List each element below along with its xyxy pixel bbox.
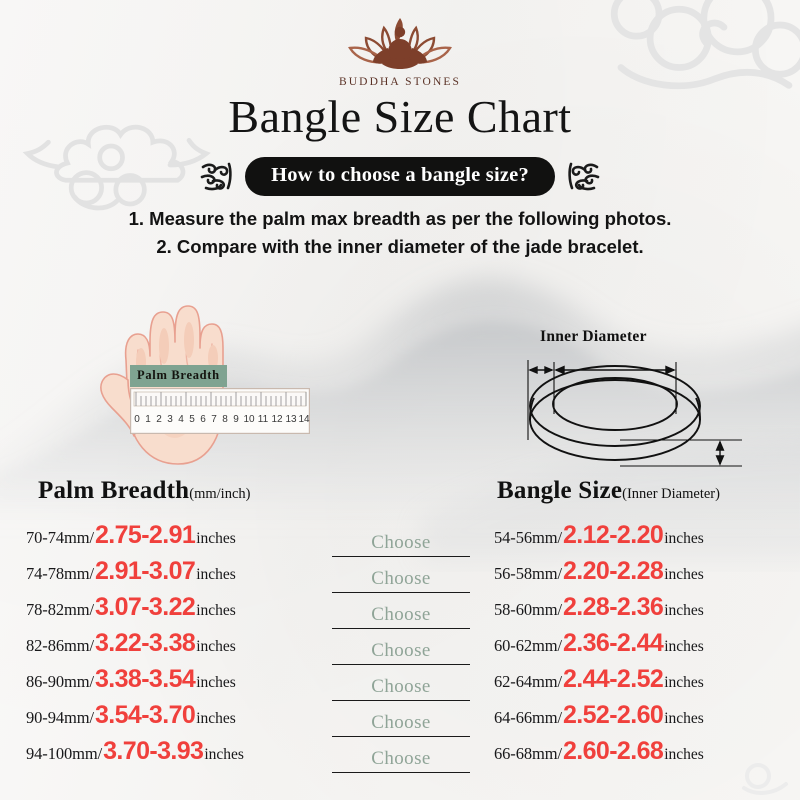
unit-label: inches — [664, 710, 704, 728]
unit-label: inches — [664, 746, 704, 764]
inch-range: 2.44-2.52 — [562, 665, 664, 694]
table-row: 64-66mm/2.52-2.60inches — [494, 701, 794, 737]
choose-underline — [332, 736, 470, 737]
lotus-meditation-logo-icon — [344, 12, 456, 74]
choose-underline — [332, 556, 470, 557]
bangle-illustration: Inner Diameter — [510, 330, 760, 470]
hand-illustration: Palm Breadth 012 345 678 91011 121314 — [96, 272, 266, 472]
instruction-list: 1. Measure the palm max breadth as per t… — [0, 205, 800, 261]
millimeter-range: 60-62mm/ — [494, 636, 562, 656]
choose-label: Choose — [332, 641, 470, 664]
svg-text:3: 3 — [167, 414, 173, 425]
millimeter-range: 74-78mm/ — [26, 564, 94, 584]
size-cell: 90-94mm/3.54-3.70inches — [26, 701, 326, 730]
size-cell: 74-78mm/2.91-3.07inches — [26, 557, 326, 586]
palm-breadth-table: 70-74mm/2.75-2.91inchesChoose74-78mm/2.9… — [26, 521, 486, 773]
size-cell: 62-64mm/2.44-2.52inches — [494, 665, 704, 694]
svg-text:8: 8 — [222, 414, 228, 425]
bangle-ring-diagram-icon — [510, 348, 760, 478]
millimeter-range: 54-56mm/ — [494, 528, 562, 548]
svg-text:14: 14 — [298, 414, 310, 425]
brand-logo: BUDDHA STONES — [0, 12, 800, 88]
choose-option[interactable]: Choose — [332, 713, 470, 737]
svg-text:12: 12 — [271, 414, 283, 425]
choose-option[interactable]: Choose — [332, 677, 470, 701]
size-cell: 66-68mm/2.60-2.68inches — [494, 737, 704, 766]
inch-range: 3.38-3.54 — [94, 665, 196, 694]
unit-label: inches — [196, 566, 236, 584]
table-row: 90-94mm/3.54-3.70inchesChoose — [26, 701, 486, 737]
instruction-line-1: 1. Measure the palm max breadth as per t… — [0, 205, 800, 233]
unit-label: inches — [196, 530, 236, 548]
millimeter-range: 78-82mm/ — [26, 600, 94, 620]
inch-range: 2.52-2.60 — [562, 701, 664, 730]
choose-underline — [332, 772, 470, 773]
size-cell: 82-86mm/3.22-3.38inches — [26, 629, 326, 658]
unit-label: inches — [664, 530, 704, 548]
table-row: 54-56mm/2.12-2.20inches — [494, 521, 794, 557]
inch-range: 2.75-2.91 — [94, 521, 196, 550]
choose-option[interactable]: Choose — [332, 605, 470, 629]
bangle-size-table: 54-56mm/2.12-2.20inches56-58mm/2.20-2.28… — [494, 521, 794, 773]
svg-text:5: 5 — [189, 414, 195, 425]
unit-label: inches — [664, 674, 704, 692]
size-cell: 64-66mm/2.52-2.60inches — [494, 701, 704, 730]
millimeter-range: 86-90mm/ — [26, 672, 94, 692]
size-cell: 54-56mm/2.12-2.20inches — [494, 521, 704, 550]
table-row: 66-68mm/2.60-2.68inches — [494, 737, 794, 773]
unit-label: inches — [204, 746, 244, 764]
inch-range: 2.91-3.07 — [94, 557, 196, 586]
inch-range: 3.07-3.22 — [94, 593, 196, 622]
inch-range: 2.60-2.68 — [562, 737, 664, 766]
choose-label: Choose — [332, 749, 470, 772]
table-row: 94-100mm/3.70-3.93inchesChoose — [26, 737, 486, 773]
table-row: 74-78mm/2.91-3.07inchesChoose — [26, 557, 486, 593]
millimeter-range: 94-100mm/ — [26, 744, 102, 764]
unit-label: inches — [196, 602, 236, 620]
page-title: Bangle Size Chart — [0, 90, 800, 143]
inch-range: 2.12-2.20 — [562, 521, 664, 550]
svg-text:13: 13 — [285, 414, 297, 425]
brand-name: BUDDHA STONES — [339, 76, 461, 88]
subtitle-pill: How to choose a bangle size? — [245, 157, 555, 196]
flourish-ornament-icon — [199, 156, 233, 196]
svg-text:11: 11 — [258, 414, 269, 425]
millimeter-range: 90-94mm/ — [26, 708, 94, 728]
inch-range: 2.28-2.36 — [562, 593, 664, 622]
unit-label: inches — [664, 566, 704, 584]
table-row: 62-64mm/2.44-2.52inches — [494, 665, 794, 701]
table-row: 58-60mm/2.28-2.36inches — [494, 593, 794, 629]
size-cell: 60-62mm/2.36-2.44inches — [494, 629, 704, 658]
table-row: 60-62mm/2.36-2.44inches — [494, 629, 794, 665]
section-title: Palm Breadth — [38, 477, 189, 504]
size-cell: 94-100mm/3.70-3.93inches — [26, 737, 326, 766]
svg-text:2: 2 — [156, 414, 162, 425]
section-subtitle: (mm/inch) — [189, 486, 250, 502]
inch-range: 3.22-3.38 — [94, 629, 196, 658]
svg-text:9: 9 — [233, 414, 239, 425]
choose-option[interactable]: Choose — [332, 641, 470, 665]
size-cell: 56-58mm/2.20-2.28inches — [494, 557, 704, 586]
inch-range: 3.70-3.93 — [102, 737, 204, 766]
millimeter-range: 66-68mm/ — [494, 744, 562, 764]
size-cell: 58-60mm/2.28-2.36inches — [494, 593, 704, 622]
inch-range: 2.36-2.44 — [562, 629, 664, 658]
table-row: 86-90mm/3.38-3.54inchesChoose — [26, 665, 486, 701]
svg-text:7: 7 — [211, 414, 217, 425]
choose-option[interactable]: Choose — [332, 533, 470, 557]
palm-breadth-badge: Palm Breadth — [130, 365, 227, 387]
svg-text:0: 0 — [134, 414, 140, 425]
unit-label: inches — [664, 638, 704, 656]
choose-label: Choose — [332, 677, 470, 700]
svg-text:10: 10 — [243, 414, 255, 425]
millimeter-range: 56-58mm/ — [494, 564, 562, 584]
inch-range: 3.54-3.70 — [94, 701, 196, 730]
unit-label: inches — [196, 674, 236, 692]
choose-label: Choose — [332, 533, 470, 556]
section-heading-bangle-size: Bangle Size(Inner Diameter) — [497, 477, 720, 505]
table-row: 56-58mm/2.20-2.28inches — [494, 557, 794, 593]
choose-underline — [332, 628, 470, 629]
svg-text:6: 6 — [200, 414, 206, 425]
unit-label: inches — [664, 602, 704, 620]
table-row: 82-86mm/3.22-3.38inchesChoose — [26, 629, 486, 665]
svg-text:4: 4 — [178, 414, 184, 425]
choose-option[interactable]: Choose — [332, 749, 470, 773]
ruler-icon: 012 345 678 91011 121314 — [130, 388, 310, 434]
choose-label: Choose — [332, 569, 470, 592]
choose-label: Choose — [332, 713, 470, 736]
table-row: 78-82mm/3.07-3.22inchesChoose — [26, 593, 486, 629]
choose-option[interactable]: Choose — [332, 569, 470, 593]
flourish-ornament-icon — [567, 156, 601, 196]
subtitle-row: How to choose a bangle size? — [0, 156, 800, 196]
millimeter-range: 64-66mm/ — [494, 708, 562, 728]
table-row: 70-74mm/2.75-2.91inchesChoose — [26, 521, 486, 557]
section-subtitle: (Inner Diameter) — [622, 486, 720, 502]
millimeter-range: 70-74mm/ — [26, 528, 94, 548]
size-cell: 86-90mm/3.38-3.54inches — [26, 665, 326, 694]
millimeter-range: 62-64mm/ — [494, 672, 562, 692]
choose-underline — [332, 592, 470, 593]
svg-text:1: 1 — [145, 414, 151, 425]
size-cell: 70-74mm/2.75-2.91inches — [26, 521, 326, 550]
unit-label: inches — [196, 710, 236, 728]
millimeter-range: 58-60mm/ — [494, 600, 562, 620]
unit-label: inches — [196, 638, 236, 656]
inner-diameter-label: Inner Diameter — [540, 328, 647, 346]
instruction-line-2: 2. Compare with the inner diameter of th… — [0, 233, 800, 261]
millimeter-range: 82-86mm/ — [26, 636, 94, 656]
inch-range: 2.20-2.28 — [562, 557, 664, 586]
choose-underline — [332, 664, 470, 665]
choose-label: Choose — [332, 605, 470, 628]
choose-underline — [332, 700, 470, 701]
size-cell: 78-82mm/3.07-3.22inches — [26, 593, 326, 622]
section-heading-palm-breadth: Palm Breadth(mm/inch) — [38, 477, 250, 505]
section-title: Bangle Size — [497, 477, 622, 504]
